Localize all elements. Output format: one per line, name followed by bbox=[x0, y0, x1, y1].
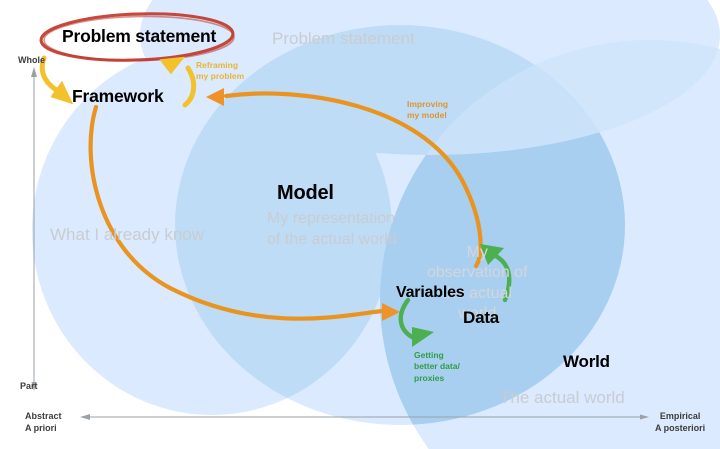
node-label-world: World bbox=[563, 352, 610, 371]
node-label-model: Model bbox=[277, 182, 334, 204]
node-label-problem-statement: Problem statement bbox=[62, 27, 216, 47]
node-label-framework: Framework bbox=[72, 87, 164, 107]
ghost-label-what-i-already-know: What I already know bbox=[50, 225, 204, 244]
annotation-improving-my-model: Improving my model bbox=[407, 99, 448, 122]
node-label-variables: Variables bbox=[396, 284, 464, 302]
node-label-data: Data bbox=[463, 308, 499, 327]
diagram-canvas: Problem statement What I already know My… bbox=[0, 0, 720, 449]
vertical-axis-arrowhead bbox=[31, 67, 37, 77]
axis-label-whole: Whole bbox=[18, 55, 45, 67]
ghost-label-problem-statement: Problem statement bbox=[272, 29, 415, 48]
horizontal-axis-arrowhead bbox=[80, 414, 90, 420]
annotation-getting-better-data: Getting better data/ proxies bbox=[414, 350, 460, 384]
ghost-label-my-representation: My representation of the actual world bbox=[267, 208, 397, 250]
axis-label-empirical-a-posteriori: Empirical A posteriori bbox=[655, 411, 705, 434]
axis-label-part: Part bbox=[20, 381, 38, 393]
annotation-reframing-my-problem: Reframing my problem bbox=[196, 60, 244, 83]
ghost-label-the-actual-world: The actual world bbox=[500, 388, 625, 407]
axis-label-abstract-a-priori: Abstract A priori bbox=[25, 411, 62, 434]
